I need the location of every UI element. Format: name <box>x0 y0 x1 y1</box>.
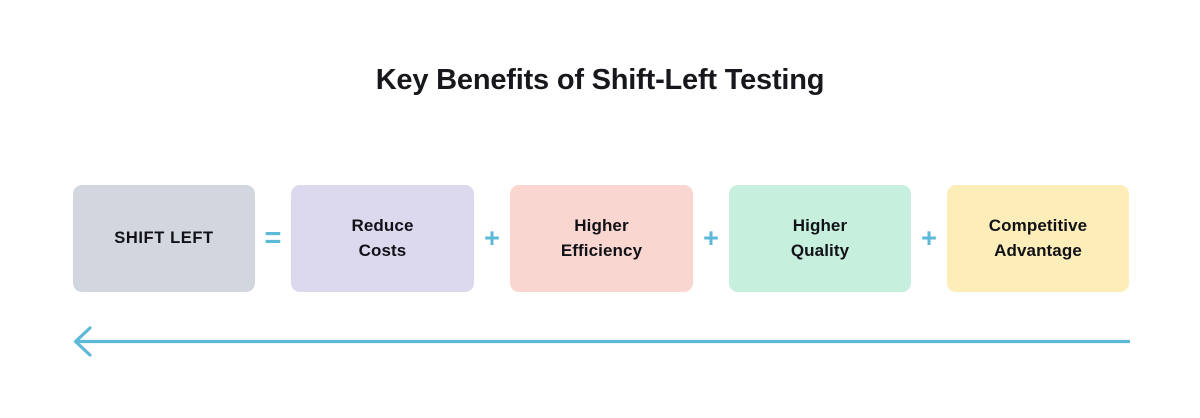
operator-equals-icon: = <box>255 224 291 253</box>
box-shift-left-label: SHIFT LEFT <box>114 227 214 250</box>
shift-left-arrow <box>70 325 1132 358</box>
diagram-canvas: Key Benefits of Shift-Left Testing SHIFT… <box>0 0 1200 418</box>
box-higher-efficiency: Higher Efficiency <box>510 185 693 292</box>
benefits-equation-row: SHIFT LEFT = Reduce Costs + Higher Effic… <box>73 185 1127 292</box>
left-arrow-icon <box>70 325 1132 358</box>
operator-plus-2-icon: + <box>693 225 729 252</box>
box-competitive-advantage: Competitive Advantage <box>947 185 1129 292</box>
page-title: Key Benefits of Shift-Left Testing <box>0 63 1200 98</box>
box-shift-left: SHIFT LEFT <box>73 185 255 292</box>
operator-plus-3-icon: + <box>911 225 947 252</box>
box-higher-quality: Higher Quality <box>729 185 911 292</box>
box-reduce-costs-label: Reduce Costs <box>351 214 413 262</box>
box-higher-quality-label: Higher Quality <box>791 214 849 262</box>
box-higher-efficiency-label: Higher Efficiency <box>561 214 642 262</box>
operator-plus-1-icon: + <box>474 225 510 252</box>
box-reduce-costs: Reduce Costs <box>291 185 474 292</box>
box-competitive-advantage-label: Competitive Advantage <box>989 214 1087 262</box>
